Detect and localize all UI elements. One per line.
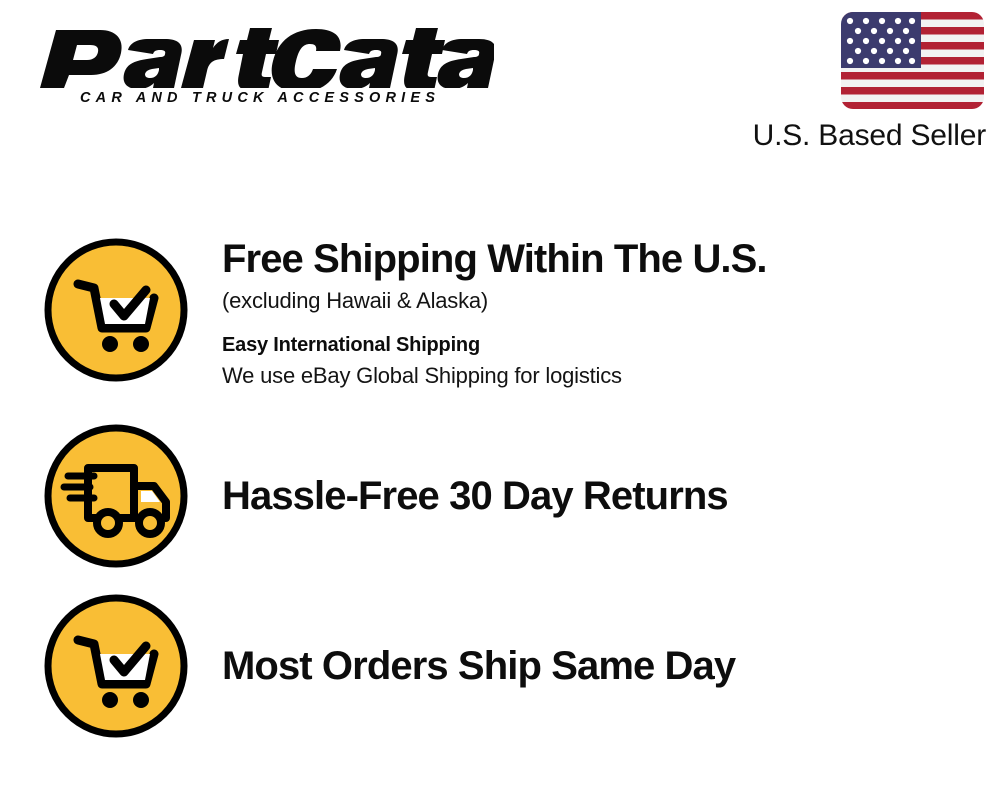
feature-title: Hassle-Free 30 Day Returns [222, 475, 1000, 517]
feature-title: Most Orders Ship Same Day [222, 645, 1000, 687]
logo-tagline: CAR AND TRUCK ACCESSORIES [80, 90, 494, 106]
shopping-cart-check-icon [42, 236, 190, 384]
feature-text: Hassle-Free 30 Day Returns [190, 475, 1000, 517]
us-based-seller-label: U.S. Based Seller [716, 119, 986, 153]
promo-banner: CAR AND TRUCK ACCESSORIES [0, 0, 1000, 800]
feature-note: (excluding Hawaii & Alaska) [222, 288, 1000, 314]
feature-text: Free Shipping Within The U.S. (excluding… [190, 236, 1000, 389]
us-flag-icon [839, 8, 986, 113]
us-based-seller-block: U.S. Based Seller [716, 8, 986, 153]
banner-header: CAR AND TRUCK ACCESSORIES [0, 0, 1000, 180]
feature-subnote: We use eBay Global Shipping for logistic… [222, 363, 1000, 389]
delivery-truck-icon [42, 422, 190, 570]
feature-row: Hassle-Free 30 Day Returns [0, 422, 1000, 570]
partcatalog-wordmark-icon [24, 26, 494, 88]
feature-title: Free Shipping Within The U.S. [222, 238, 1000, 280]
feature-row: Most Orders Ship Same Day [0, 592, 1000, 740]
shopping-cart-check-icon [42, 592, 190, 740]
feature-text: Most Orders Ship Same Day [190, 645, 1000, 687]
brand-logo: CAR AND TRUCK ACCESSORIES [24, 26, 494, 106]
feature-row: Free Shipping Within The U.S. (excluding… [0, 236, 1000, 389]
feature-subhead: Easy International Shipping [222, 333, 1000, 357]
